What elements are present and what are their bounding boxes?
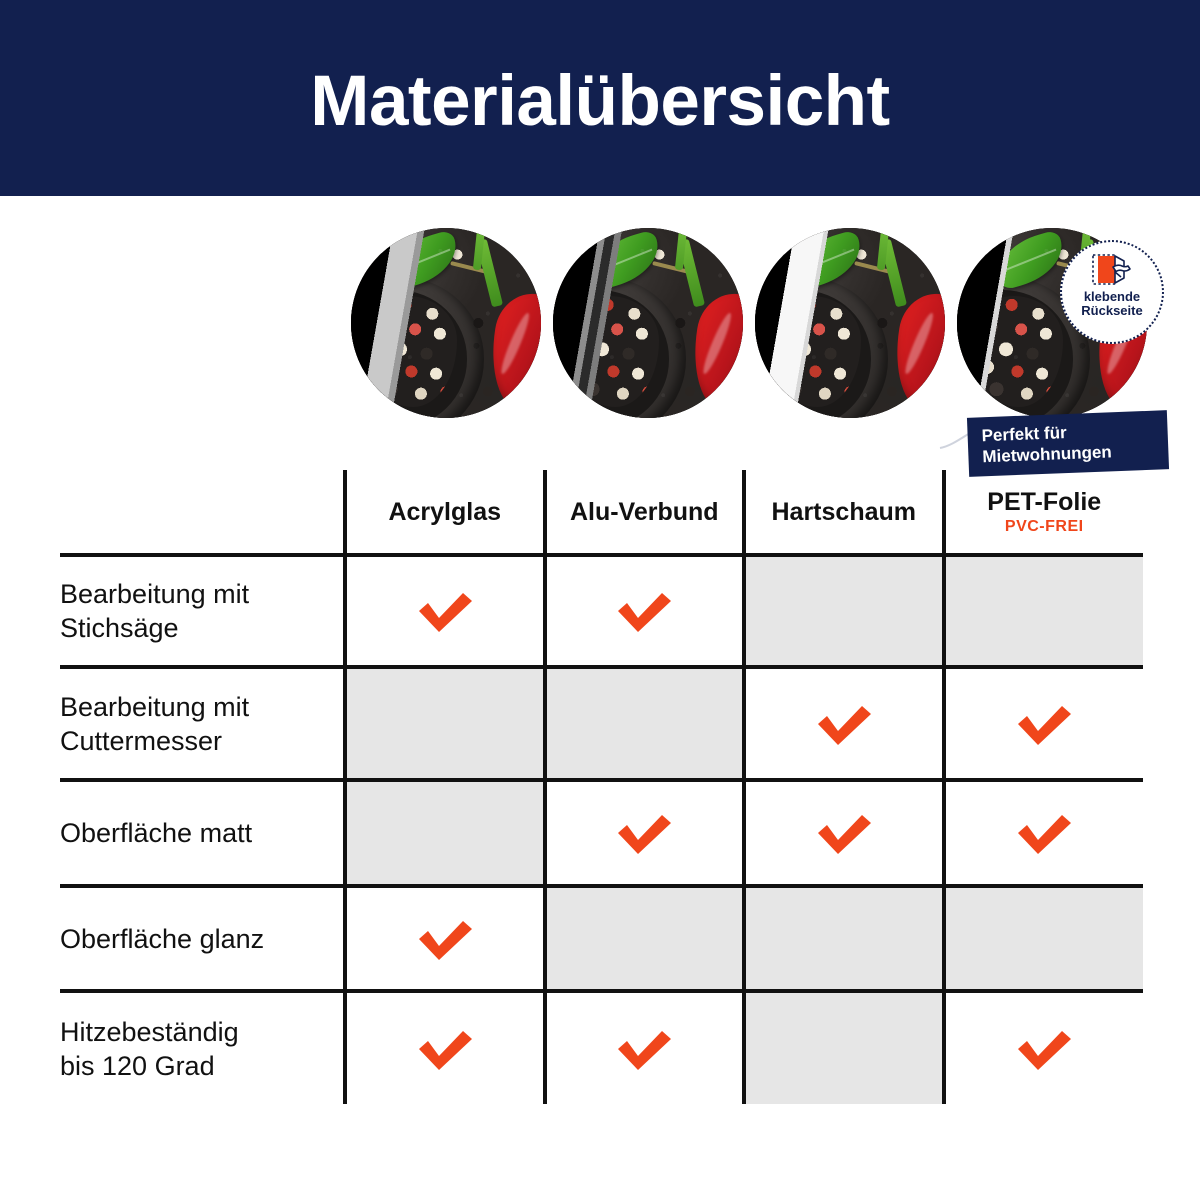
cell-cuttermesser-alu-verbund — [545, 667, 745, 780]
row-label-line-1: Bearbeitung mit — [60, 579, 249, 609]
leaf-stem — [854, 261, 896, 275]
row-label-line-2: bis 120 Grad — [60, 1051, 215, 1081]
peppercorns-cluster — [766, 296, 861, 406]
check-icon — [613, 809, 675, 857]
check-icon — [414, 1025, 476, 1073]
chili-highlight — [901, 311, 936, 376]
check-icon — [613, 1025, 675, 1073]
check-icon — [414, 587, 476, 635]
row-label-line-2: Stichsäge — [60, 613, 179, 643]
leaf-vein — [803, 248, 855, 270]
row-label-oberflaeche-matt: Oberfläche matt — [60, 780, 345, 886]
chili-stalk — [678, 239, 706, 308]
pvc-free-badge: PVC-FREI — [946, 517, 1144, 536]
peppercorns-cluster — [362, 296, 457, 406]
badge-label: klebende Rückseite — [1081, 290, 1142, 318]
basil-leaf-icon — [788, 229, 868, 290]
leaf-vein — [399, 248, 451, 270]
ribbon-line-2: Mietwohnungen — [982, 442, 1112, 466]
mortar-bowl-inner — [553, 290, 669, 418]
chili-highlight — [497, 311, 532, 376]
material-comparison-table: Acrylglas Alu-Verbund Hartschaum PET-Fol… — [60, 470, 1143, 1095]
check-icon — [613, 587, 675, 635]
column-header-label: Alu-Verbund — [547, 498, 743, 526]
chili-stalk — [476, 239, 504, 308]
badge-line-2: Rückseite — [1081, 303, 1142, 318]
table-row: Hitzebeständig bis 120 Grad — [60, 991, 1143, 1104]
peppercorns-cluster — [564, 296, 659, 406]
leaf-vein — [601, 248, 653, 270]
column-header-acrylglas: Acrylglas — [345, 470, 545, 555]
mortar-bowl-shape — [351, 277, 484, 418]
cell-hitze-acrylglas — [345, 991, 545, 1104]
chili-stalk-secondary — [675, 228, 689, 270]
product-photo — [755, 228, 945, 418]
chili-stalk-secondary — [877, 228, 891, 270]
peel-sticker-icon — [1091, 253, 1133, 287]
check-icon — [1013, 809, 1075, 857]
scattered-peppercorns — [351, 228, 541, 418]
column-header-label: PET-Folie — [946, 488, 1144, 516]
chili-pepper-icon — [685, 288, 743, 414]
cell-matt-alu-verbund — [545, 780, 745, 886]
row-label-line-1: Hitzebeständig — [60, 1017, 239, 1047]
klebende-rueckseite-badge: klebende Rückseite — [1060, 240, 1164, 344]
basil-leaf-icon — [384, 229, 464, 290]
chili-stalk-secondary — [473, 228, 487, 270]
cell-hitze-pet-folie — [944, 991, 1144, 1104]
basil-leaf-icon — [586, 229, 666, 290]
check-icon — [1013, 1025, 1075, 1073]
column-header-label: Hartschaum — [746, 498, 942, 526]
cell-cuttermesser-hartschaum — [744, 667, 944, 780]
chili-highlight — [699, 311, 734, 376]
chili-pepper-icon — [887, 288, 945, 414]
chili-stalk — [880, 239, 908, 308]
row-label-hitzebestaendig: Hitzebeständig bis 120 Grad — [60, 991, 345, 1104]
row-label-line-2: Cuttermesser — [60, 726, 222, 756]
row-label-line-1: Oberfläche glanz — [60, 924, 264, 954]
column-header-alu-verbund: Alu-Verbund — [545, 470, 745, 555]
page-title: Materialübersicht — [0, 0, 1200, 196]
ribbon-line-1: Perfekt für — [981, 423, 1067, 445]
cell-cuttermesser-pet-folie — [944, 667, 1144, 780]
table-row: Bearbeitung mit Stichsäge — [60, 555, 1143, 667]
cell-matt-acrylglas — [345, 780, 545, 886]
table-header-row: Acrylglas Alu-Verbund Hartschaum PET-Fol… — [60, 470, 1143, 555]
cell-glanz-alu-verbund — [545, 886, 745, 991]
row-label-line-1: Bearbeitung mit — [60, 692, 249, 722]
cell-stichsaege-acrylglas — [345, 555, 545, 667]
basil-leaf-icon — [990, 229, 1070, 290]
cell-stichsaege-alu-verbund — [545, 555, 745, 667]
row-label-stichsaege: Bearbeitung mit Stichsäge — [60, 555, 345, 667]
thumbnail-hartschaum[interactable] — [755, 228, 945, 418]
scattered-peppercorns — [755, 228, 945, 418]
check-icon — [1013, 700, 1075, 748]
cell-hitze-hartschaum — [744, 991, 944, 1104]
table-row: Oberfläche matt — [60, 780, 1143, 886]
cell-matt-pet-folie — [944, 780, 1144, 886]
cell-hitze-alu-verbund — [545, 991, 745, 1104]
cell-glanz-hartschaum — [744, 886, 944, 991]
mietwohnungen-ribbon: Perfekt für Mietwohnungen — [967, 410, 1169, 477]
row-label-line-1: Oberfläche matt — [60, 818, 252, 848]
chili-pepper-icon — [483, 288, 541, 414]
mortar-bowl-inner — [755, 290, 871, 418]
row-label-cuttermesser: Bearbeitung mit Cuttermesser — [60, 667, 345, 780]
scattered-peppercorns — [553, 228, 743, 418]
table-row: Bearbeitung mit Cuttermesser — [60, 667, 1143, 780]
column-header-hartschaum: Hartschaum — [744, 470, 944, 555]
mortar-bowl-inner — [957, 290, 1073, 418]
cell-cuttermesser-acrylglas — [345, 667, 545, 780]
thumbnail-alu-verbund[interactable] — [553, 228, 743, 418]
mortar-bowl-shape — [553, 277, 686, 418]
product-photo — [351, 228, 541, 418]
check-icon — [813, 809, 875, 857]
leaf-stem — [652, 261, 694, 275]
cell-glanz-acrylglas — [345, 886, 545, 991]
leaf-stem — [450, 261, 492, 275]
check-icon — [414, 915, 476, 963]
cell-stichsaege-pet-folie — [944, 555, 1144, 667]
thumbnail-acrylglas[interactable] — [351, 228, 541, 418]
leaf-vein — [1005, 248, 1057, 270]
badge-line-1: klebende — [1084, 289, 1140, 304]
cell-glanz-pet-folie — [944, 886, 1144, 991]
table-corner-cell — [60, 470, 345, 555]
column-header-pet-folie: PET-Folie PVC-FREI — [944, 470, 1144, 555]
material-thumbnail-strip — [345, 228, 1143, 428]
mortar-bowl-inner — [351, 290, 467, 418]
peppercorns-cluster — [968, 296, 1063, 406]
material-overview-page: Materialübersicht — [0, 0, 1200, 1200]
column-header-label: Acrylglas — [347, 498, 543, 526]
row-label-oberflaeche-glanz: Oberfläche glanz — [60, 886, 345, 991]
cell-matt-hartschaum — [744, 780, 944, 886]
check-icon — [813, 700, 875, 748]
product-photo — [553, 228, 743, 418]
mortar-bowl-shape — [755, 277, 888, 418]
cell-stichsaege-hartschaum — [744, 555, 944, 667]
table-row: Oberfläche glanz — [60, 886, 1143, 991]
